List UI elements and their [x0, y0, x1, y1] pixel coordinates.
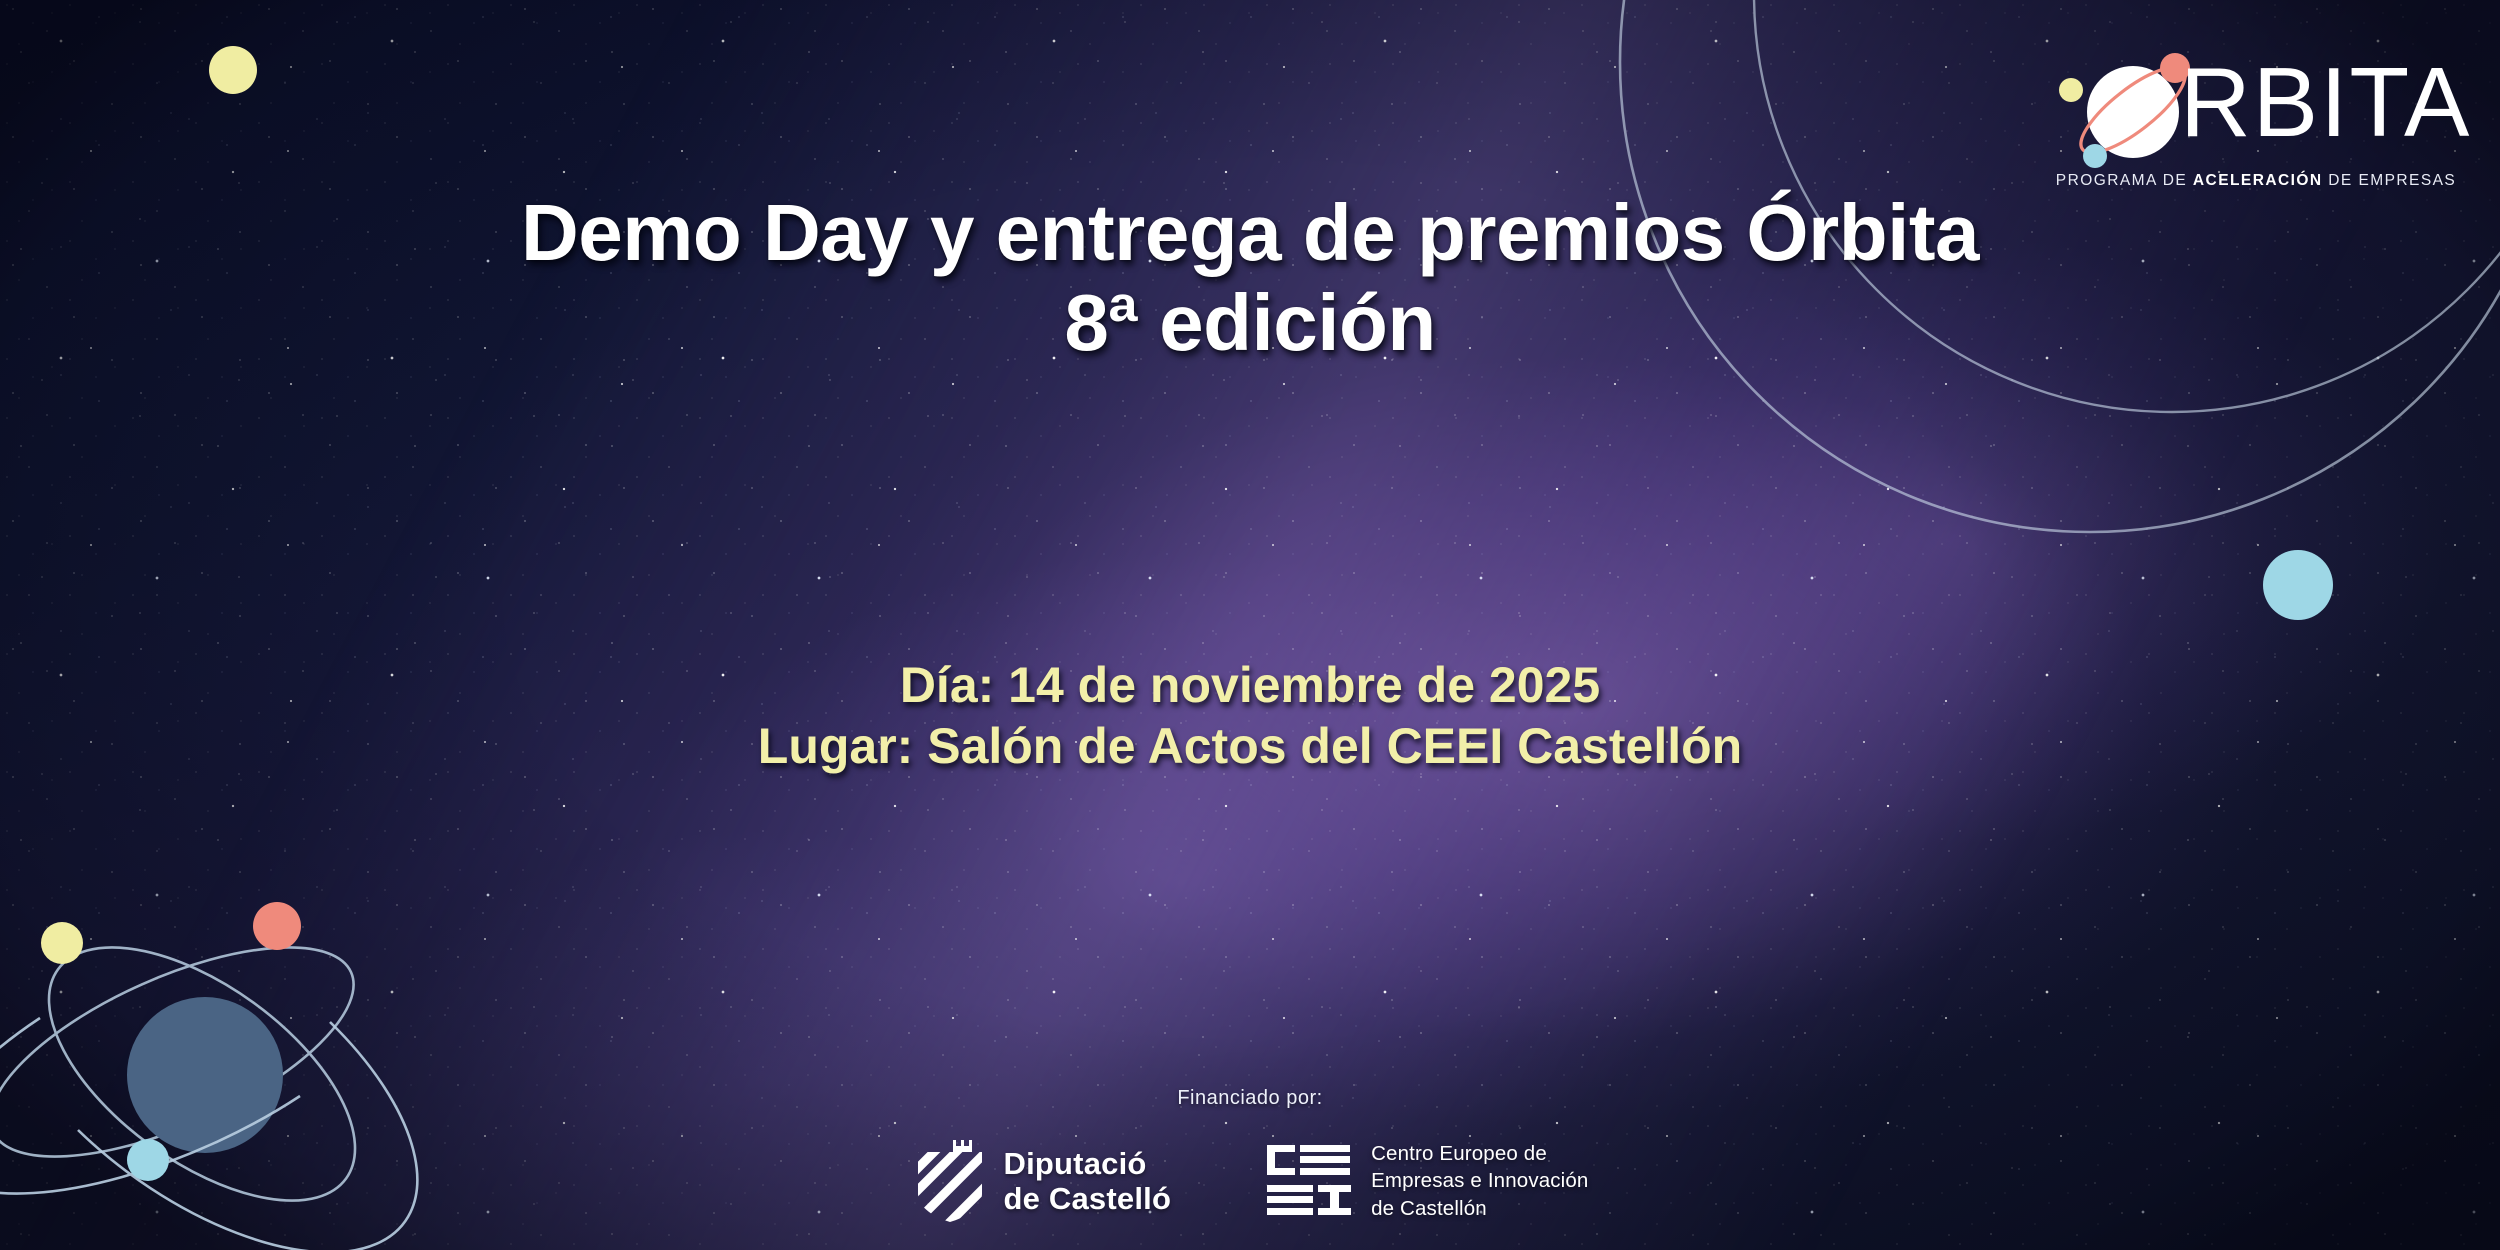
poster-canvas: RBITA PROGRAMA DE ACELERACIÓN DE EMPRESA… [0, 0, 2500, 1250]
sponsor-ceei[interactable]: Centro Europeo de Empresas e Innovación … [1263, 1140, 1588, 1222]
ceei-letter-i [1318, 1185, 1351, 1215]
diputacio-shield-logo [912, 1138, 988, 1224]
logo-lightblue-dot [2083, 144, 2107, 168]
logo-yellow-dot [2059, 78, 2083, 102]
diputacio-line-2: de Castelló [1004, 1181, 1172, 1216]
orbita-logo[interactable]: RBITA PROGRAMA DE ACELERACIÓN DE EMPRESA… [2046, 46, 2466, 190]
page-title: Demo Day y entrega de premios Órbita 8ª … [120, 188, 2380, 367]
ceei-label: Centro Europeo de Empresas e Innovación … [1371, 1140, 1588, 1222]
shield-bars [912, 1138, 988, 1224]
funded-by-label: Financiado por: [0, 1087, 2500, 1110]
ceei-line-1: Centro Europeo de [1371, 1140, 1588, 1167]
headline-line-1: Demo Day y entrega de premios Órbita [521, 188, 1979, 277]
event-place: Lugar: Salón de Actos del CEEI Castellón [120, 716, 2380, 777]
crown-icon [953, 1140, 972, 1152]
tagline-part-2: DE EMPRESAS [2323, 172, 2457, 189]
sponsor-diputacio[interactable]: Diputació de Castelló [912, 1138, 1172, 1224]
ceei-block-logo [1263, 1141, 1355, 1221]
headline-block: Demo Day y entrega de premios Órbita 8ª … [0, 188, 2500, 367]
event-details: Día: 14 de noviembre de 2025 Lugar: Saló… [0, 655, 2500, 777]
sponsor-logo-strip: Diputació de Castelló [0, 1138, 2500, 1224]
ceei-letter-e-bottom [1267, 1185, 1313, 1215]
footer: Financiado por: [0, 1087, 2500, 1224]
ceei-letter-e-top [1300, 1145, 1350, 1175]
orbita-logo-markrow: RBITA [2046, 46, 2466, 168]
diputacio-label: Diputació de Castelló [1004, 1146, 1172, 1217]
event-date: Día: 14 de noviembre de 2025 [120, 655, 2380, 716]
ceei-letter-c [1267, 1145, 1295, 1175]
ceei-line-3: de Castellón [1371, 1195, 1588, 1222]
tagline-part-1: PROGRAMA DE [2056, 172, 2193, 189]
headline-line-2: 8ª edición [120, 278, 2380, 368]
orbita-wordmark: RBITA [2180, 50, 2471, 154]
ceei-line-2: Empresas e Innovación [1371, 1167, 1588, 1194]
diputacio-line-1: Diputació [1004, 1146, 1172, 1181]
tagline-emphasis: ACELERACIÓN [2193, 172, 2323, 189]
